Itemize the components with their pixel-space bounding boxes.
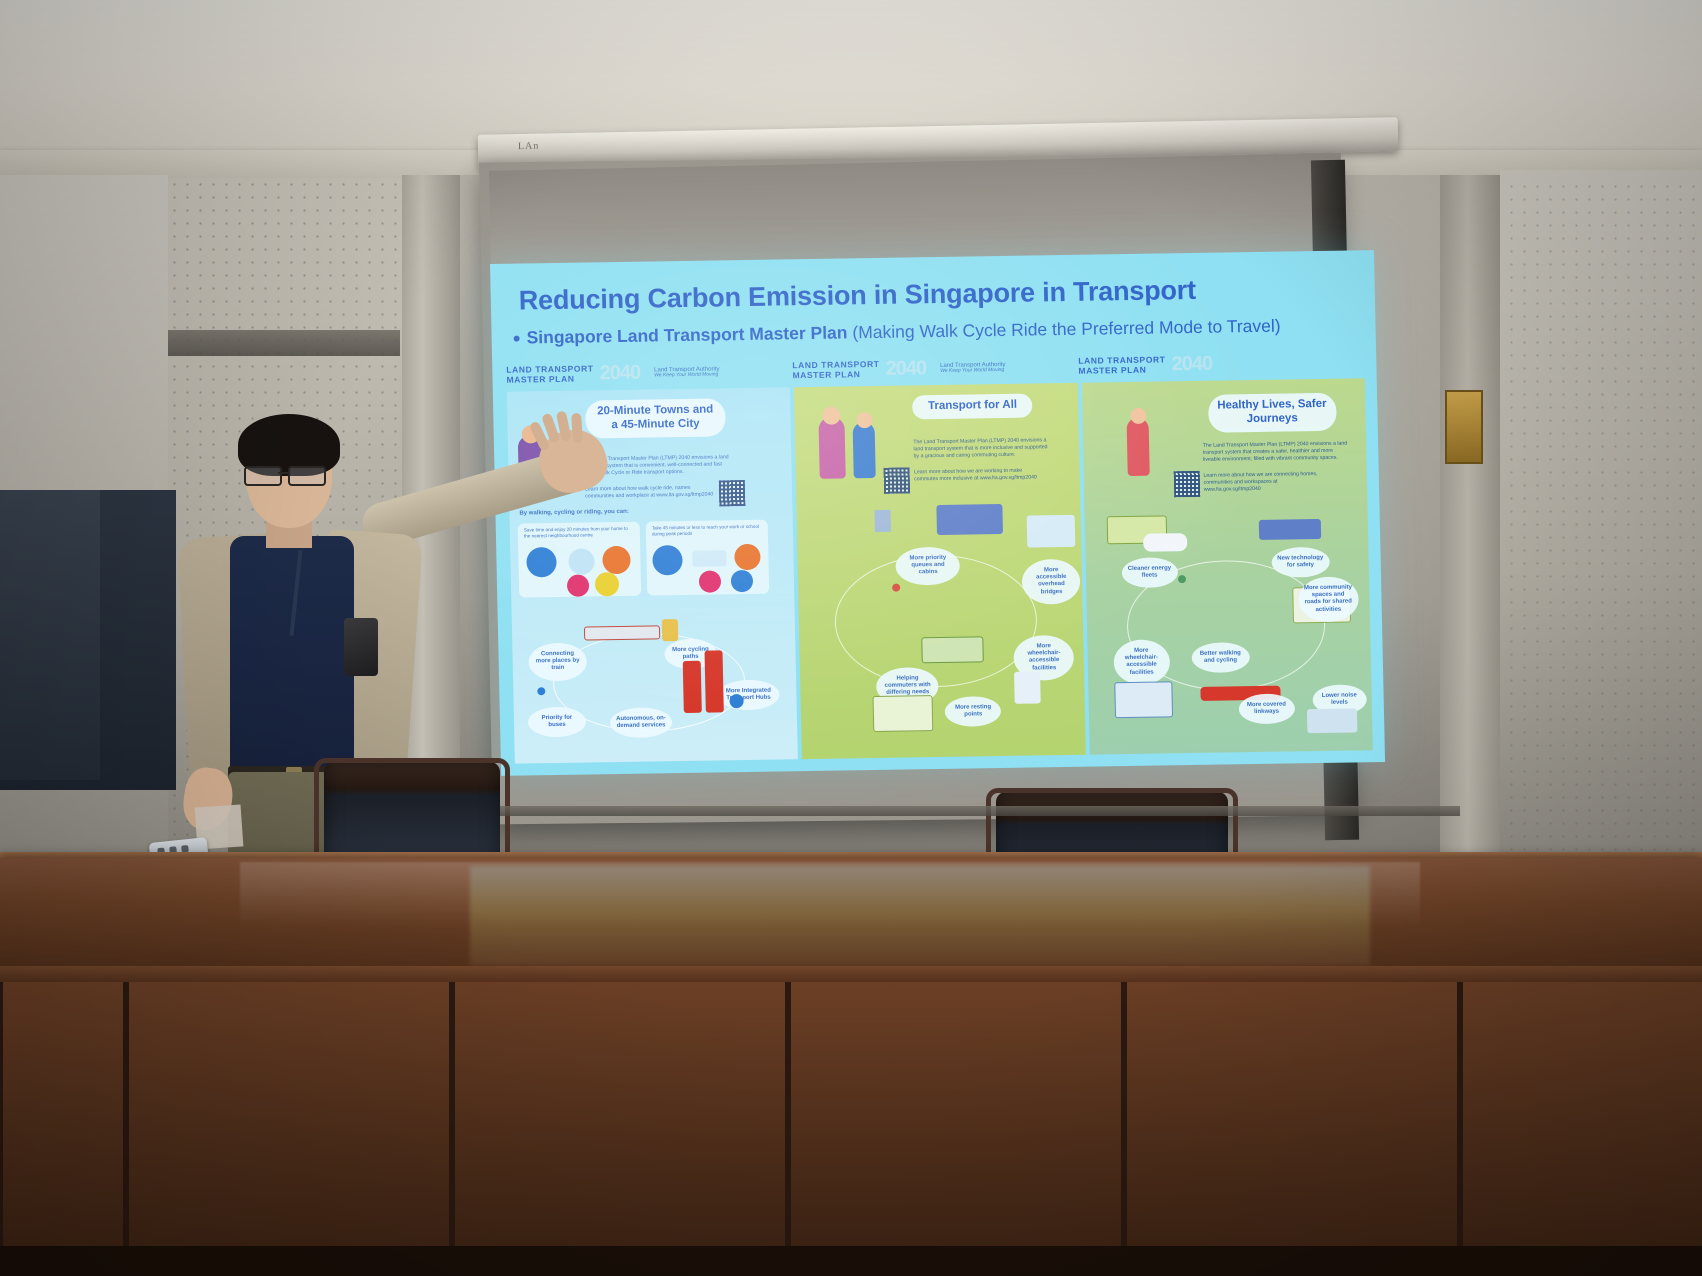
dark-wall-recess-inner bbox=[0, 490, 100, 780]
ph2-line1: LAND TRANSPORT bbox=[792, 359, 879, 370]
illustration-elder bbox=[819, 416, 846, 478]
poster2-label-4: More resting points bbox=[945, 696, 1002, 727]
poster-row: 20-Minute Towns and a 45-Minute City The… bbox=[507, 378, 1373, 763]
poster1-subcard-right: Take 45 minutes or less to reach your wo… bbox=[646, 520, 770, 596]
illustration-cyclist bbox=[729, 694, 743, 708]
icon-train bbox=[692, 550, 726, 567]
poster3-cta: Learn more about how we are connecting h… bbox=[1203, 471, 1335, 494]
poster1-headline: 20-Minute Towns and a 45-Minute City bbox=[585, 398, 726, 438]
illustration-electric-car bbox=[1143, 533, 1187, 552]
illustration-wheelchair bbox=[875, 510, 891, 532]
poster-header-3-text: LAND TRANSPORT MASTER PLAN bbox=[1078, 354, 1166, 375]
ph2-year: 2040 bbox=[885, 357, 926, 381]
slide-title: Reducing Carbon Emission in Singapore in… bbox=[518, 273, 1349, 317]
poster3-label-wheelchair: More wheelchair-accessible facilities bbox=[1113, 639, 1170, 685]
slide-subtitle-rest: (Making Walk Cycle Ride the Preferred Mo… bbox=[852, 316, 1281, 343]
qr-code-icon-2 bbox=[884, 467, 911, 493]
poster3-label-4: More covered linkways bbox=[1238, 693, 1295, 724]
illustration-building bbox=[662, 619, 678, 641]
illustration-hawker-centre bbox=[873, 695, 934, 732]
room-photo-scene: LAn Reducing Carbon Emission in Singapor… bbox=[0, 0, 1702, 1276]
ph3-line2: MASTER PLAN bbox=[1078, 364, 1165, 375]
illustration-bus bbox=[922, 636, 985, 663]
wall-notice-plate bbox=[1445, 390, 1483, 464]
slide-subtitle: Singapore Land Transport Master Plan (Ma… bbox=[513, 314, 1369, 348]
floor-shadow bbox=[0, 1246, 1702, 1276]
desk-panel-3 bbox=[452, 982, 788, 1264]
wall-trim-strip bbox=[168, 330, 400, 356]
desk-panel-2 bbox=[126, 982, 452, 1264]
desk-panel-4 bbox=[788, 982, 1124, 1264]
icon-worksite bbox=[731, 570, 753, 592]
poster3-body: The Land Transport Master Plan (LTMP) 20… bbox=[1203, 441, 1349, 464]
poster1-label-2: Autonomous, on-demand services bbox=[610, 707, 673, 738]
poster2-headline: Transport for All bbox=[912, 393, 1033, 419]
icon-school bbox=[699, 570, 721, 592]
ph1-line1: LAND TRANSPORT bbox=[506, 363, 593, 374]
illustration-quiet-street bbox=[1307, 708, 1358, 733]
qr-code-icon-3 bbox=[1173, 471, 1200, 497]
illustration-train bbox=[584, 625, 660, 640]
illustration-lift bbox=[1014, 671, 1041, 703]
icon-shop bbox=[602, 546, 631, 574]
bullet-icon bbox=[514, 336, 520, 342]
housing-label: LAn bbox=[518, 141, 540, 152]
illustration-covered-linkway bbox=[1114, 681, 1173, 718]
node-dot-3 bbox=[1178, 575, 1186, 583]
poster3-headline: Healthy Lives, Safer Journeys bbox=[1208, 393, 1337, 433]
qr-code-icon-1 bbox=[719, 480, 746, 506]
icon-park bbox=[595, 572, 620, 596]
illustration-hdb-2 bbox=[704, 650, 723, 712]
poster-header-1-text: LAND TRANSPORT MASTER PLAN bbox=[506, 363, 594, 384]
lta-logo-2-line2: We Keep Your World Moving bbox=[940, 367, 1005, 373]
ph1-year: 2040 bbox=[599, 361, 640, 385]
poster2-cta: Learn more about how we are working to m… bbox=[914, 467, 1044, 483]
icon-home-2 bbox=[652, 545, 683, 575]
poster2-body: The Land Transport Master Plan (LTMP) 20… bbox=[913, 437, 1053, 460]
lta-logo-1: Land Transport Authority We Keep Your Wo… bbox=[654, 366, 720, 378]
glasses-bridge bbox=[278, 472, 288, 474]
slide-subtitle-strong: Singapore Land Transport Master Plan bbox=[526, 322, 847, 347]
illustration-runner bbox=[1126, 418, 1149, 476]
poster-header-1: LAND TRANSPORT MASTER PLAN 2040 Land Tra… bbox=[506, 353, 793, 391]
lta-logo-2: Land Transport Authority We Keep Your Wo… bbox=[940, 361, 1006, 373]
illustration-train-safety bbox=[1258, 519, 1320, 540]
presenter-badge bbox=[344, 618, 378, 676]
poster1-label-4: More Integrated Transport Hubs bbox=[717, 680, 780, 711]
glasses-icon bbox=[244, 466, 332, 482]
ph3-year: 2040 bbox=[1171, 352, 1212, 376]
poster-header-2-text: LAND TRANSPORT MASTER PLAN bbox=[792, 359, 880, 380]
poster-healthy-lives: Healthy Lives, Safer Journeys The Land T… bbox=[1081, 378, 1372, 754]
poster1-subcard-right-text: Take 45 minutes or less to reach your wo… bbox=[652, 524, 762, 538]
ph1-line2: MASTER PLAN bbox=[506, 373, 593, 384]
finger-4 bbox=[571, 413, 583, 444]
poster3-label-1: New technology for safety bbox=[1271, 547, 1330, 578]
illustration-hdb-1 bbox=[683, 661, 702, 713]
glasses-lens-left bbox=[244, 466, 282, 486]
desk-panel-1 bbox=[0, 982, 126, 1264]
lta-logo-1-line2: We Keep Your World Moving bbox=[654, 372, 719, 378]
desk-slide-reflection bbox=[470, 866, 1370, 966]
poster-transport-for-all: Transport for All The Land Transport Mas… bbox=[794, 383, 1085, 759]
illustration-walker bbox=[853, 422, 876, 478]
poster1-cta: Learn more about how walk cycle ride, na… bbox=[585, 484, 715, 500]
poster-header-2: LAND TRANSPORT MASTER PLAN 2040 Land Tra… bbox=[792, 349, 1079, 387]
poster3-label-2: More community spaces and roads for shar… bbox=[1298, 576, 1359, 622]
ph2-line2: MASTER PLAN bbox=[792, 369, 879, 380]
projected-slide: Reducing Carbon Emission in Singapore in… bbox=[490, 250, 1385, 776]
glasses-lens-right bbox=[288, 466, 326, 486]
desk-panel-5 bbox=[1124, 982, 1460, 1264]
poster2-label-1: More accessible overhead bridges bbox=[1022, 559, 1081, 605]
poster-header-3: LAND TRANSPORT MASTER PLAN 2040 bbox=[1078, 344, 1365, 382]
desk-cable-rail bbox=[500, 806, 1460, 816]
icon-office bbox=[734, 544, 761, 570]
illustration-mrt-cabin bbox=[937, 504, 1004, 535]
presenter-shirt bbox=[230, 536, 354, 786]
illustration-runner-head bbox=[1130, 408, 1146, 424]
illustration-overhead-bridge bbox=[1027, 515, 1076, 548]
desk-panel-6 bbox=[1460, 982, 1702, 1264]
ph3-line1: LAND TRANSPORT bbox=[1078, 354, 1165, 365]
acoustic-panel-right bbox=[1505, 180, 1697, 870]
